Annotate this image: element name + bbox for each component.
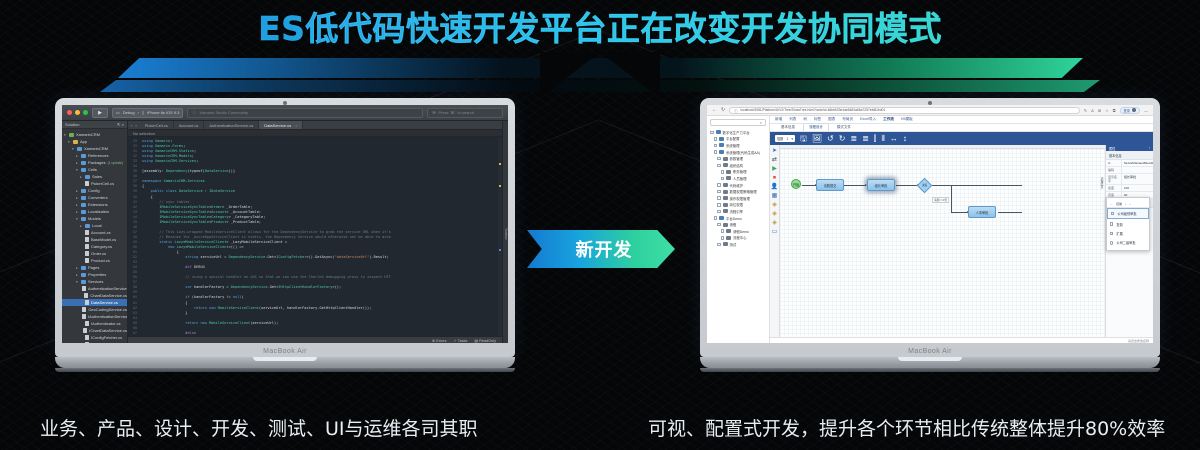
solution-tree-item-label: GeoCodingService.cs xyxy=(88,307,127,312)
readonly-status[interactable]: ▤ ReadOnly xyxy=(474,338,496,343)
code-editor[interactable]: 2930313233343536373839404142434445464748… xyxy=(128,137,502,336)
lowcode-tree-item-label: 平台Demo xyxy=(726,216,742,221)
expander-icon[interactable]: ▾ xyxy=(76,168,79,172)
solution-tree-item[interactable]: Category.cs xyxy=(62,243,127,250)
solution-tree-item[interactable]: DataService.cs xyxy=(62,299,127,306)
solution-tree-item-label: Extensions xyxy=(88,202,108,207)
file-icon xyxy=(82,286,86,291)
flow-node-gateway-label: 决策 xyxy=(919,180,930,191)
file-icon xyxy=(85,342,89,343)
checkbox-icon[interactable] xyxy=(1111,212,1114,215)
editor-tab-label: PickerCell.cs xyxy=(145,123,168,128)
solution-tree-item[interactable]: ChartDataService.cs xyxy=(62,292,127,299)
folder-icon xyxy=(81,210,86,214)
lowcode-tree-item[interactable]: 测试 xyxy=(709,241,769,248)
solution-tree-item[interactable]: ▾XamarinCRM xyxy=(62,131,127,138)
lowcode-subtab[interactable]: 基本信息 xyxy=(775,123,801,131)
folder-icon xyxy=(723,242,728,246)
error-icon: ⊗ xyxy=(432,339,435,343)
checkbox[interactable] xyxy=(714,150,718,154)
subprocess-icon[interactable]: ▭ xyxy=(772,229,778,235)
flow-node-task-selected[interactable]: 组长审批 xyxy=(867,179,895,191)
solution-tree-item[interactable]: ▾Models xyxy=(62,215,127,222)
editor-tab-label: Account.cs xyxy=(179,123,199,128)
folder-icon xyxy=(719,137,724,141)
context-menu-item[interactable]: 复制 xyxy=(1107,219,1149,228)
lowcode-tree-item[interactable]: 平台配置 xyxy=(709,136,769,143)
save-icon[interactable]: 🖫 xyxy=(800,135,807,143)
solution-tree-item[interactable]: Order.cs xyxy=(62,250,127,257)
errors-status[interactable]: ⊗ Errors xyxy=(432,338,447,343)
ide-title-bar: ⓘ Xamarin Studio Community xyxy=(187,108,423,118)
editor-nav-arrows[interactable]: ‹ › xyxy=(128,121,140,129)
expander-icon[interactable]: ▾ xyxy=(76,280,79,284)
ide-screen: ▶ ▭ Debug › ▯ iPhone 6s iOS 9.3 ⓘ Xamari… xyxy=(62,105,508,343)
cursor-icon[interactable]: ➤ xyxy=(772,148,777,154)
ide-toolbar: ▶ ▭ Debug › ▯ iPhone 6s iOS 9.3 ⓘ Xamari… xyxy=(62,105,508,121)
back-icon[interactable]: ‹ xyxy=(131,123,132,128)
inclusive-gateway-icon[interactable]: ◈ xyxy=(772,211,777,217)
lowcode-tree-item[interactable]: 系统管理(代码生成AA) xyxy=(709,149,769,156)
file-icon xyxy=(82,307,86,312)
xamarin-studio-ide: ▶ ▭ Debug › ▯ iPhone 6s iOS 9.3 ⓘ Xamari… xyxy=(62,105,508,343)
ide-right-rail[interactable]: Toolbox xyxy=(502,121,508,343)
solution-tree-item-label: Localization xyxy=(88,209,109,214)
folder-icon xyxy=(73,140,78,144)
close-icon[interactable]: × xyxy=(122,122,124,127)
check-icon: ✓ xyxy=(454,339,457,343)
lowcode-menu-item[interactable]: 树 xyxy=(803,117,807,122)
solution-tree-item-label: Local xyxy=(92,223,102,228)
checkbox[interactable] xyxy=(717,164,721,168)
lowcode-tree-item-label: 系统管理 xyxy=(726,143,740,148)
info-icon: ⓘ xyxy=(192,110,196,116)
folder-icon xyxy=(81,154,86,158)
configuration-selector[interactable]: ▭ Debug › ▯ iPhone 6s iOS 9.3 xyxy=(112,108,183,118)
folder-icon xyxy=(723,209,728,213)
lowcode-sidebar: ⌕ 数字化生产力平台平台配置系统管理系统管理(代码生成AA)参数管理组织结构职务… xyxy=(707,116,770,343)
search-icon: ⌕ xyxy=(760,120,762,125)
scale-selector[interactable]: 倍数 1 ▾ xyxy=(775,135,795,142)
lowcode-menu-item[interactable]: H5模板 xyxy=(901,117,913,122)
redo-icon[interactable]: ↻ xyxy=(839,135,846,143)
ide-status-bar: ⊗ Errors ✓ Tasks ▤ ReadOnly xyxy=(128,336,502,343)
checkbox[interactable] xyxy=(721,236,725,240)
lowcode-tree-item[interactable]: 数据权限策略管理 xyxy=(709,188,769,195)
solution-tree-item-label: PickerCell.cs xyxy=(91,181,114,186)
laptop-left-model-label: MacBook Air xyxy=(55,348,515,355)
lowcode-tree-item[interactable]: 人员管理 xyxy=(709,175,769,182)
expander-icon[interactable]: ▾ xyxy=(64,133,67,137)
file-icon xyxy=(85,230,89,235)
context-menu-item[interactable]: 扩展 xyxy=(1107,229,1149,238)
solution-tree-item[interactable]: IChartDataService.cs xyxy=(62,327,127,334)
solution-panel-header: Solution ⇱ × xyxy=(62,121,127,129)
property-value[interactable]: 组长审批 xyxy=(1122,174,1153,184)
minimize-icon[interactable]: — xyxy=(1144,108,1148,113)
solution-tree-item-label: Pages xyxy=(88,265,99,270)
checkbox-icon[interactable] xyxy=(1110,222,1113,225)
context-menu-item[interactable]: 公司级别审批 xyxy=(1107,208,1149,219)
solution-tree[interactable]: ▾XamarinCRM▾App▾XamarinCRM▸References▸Pa… xyxy=(62,129,127,343)
solution-tree-item[interactable]: IConfigFetcher.cs xyxy=(62,334,127,341)
expander-icon[interactable]: ▸ xyxy=(80,175,83,179)
lowcode-subtab[interactable]: 模式文件 xyxy=(831,123,857,131)
image-icon[interactable]: 🖼 xyxy=(812,135,822,143)
context-menu-item[interactable]: 公司二级审批 xyxy=(1107,238,1149,247)
user-task-icon[interactable]: 👤 xyxy=(771,184,778,190)
browser-window: ← ↻ ⓘ localhost:9081/Platform/UIV2/Tree/… xyxy=(707,105,1153,343)
device-icon: ▯ xyxy=(142,110,144,115)
file-icon xyxy=(85,258,89,263)
close-icon[interactable]: × xyxy=(295,123,297,128)
solution-tree-item[interactable]: ▸Config xyxy=(62,187,127,194)
prev-icon[interactable]: ‹ xyxy=(1125,202,1126,206)
checkbox[interactable] xyxy=(714,216,718,220)
lowcode-menu-item[interactable]: 新增 xyxy=(775,117,782,122)
lowcode-tree-item[interactable]: 参数管理 xyxy=(709,155,769,162)
solution-tree-item[interactable]: ▾App xyxy=(62,138,127,145)
lowcode-tree-item[interactable]: 请假 xyxy=(709,221,769,228)
solution-tree-item-label: Config xyxy=(88,188,100,193)
lowcode-tree-item[interactable]: 代码维护 xyxy=(709,182,769,189)
laptop-right-foot xyxy=(700,368,1160,372)
laptop-left-foot xyxy=(55,368,515,372)
folder-icon xyxy=(723,183,728,187)
checkbox[interactable] xyxy=(717,223,721,227)
align-left-icon[interactable]: ≣ xyxy=(850,135,857,143)
properties-panel-title: 属性 xyxy=(1109,146,1115,151)
address-bar[interactable]: ⓘ localhost:9081/Platform/UIV2/Tree/Show… xyxy=(729,107,1080,114)
solution-tree-item-label: XamarinCRM xyxy=(76,132,100,137)
solution-tree-item-label: IConfigFetcher.cs xyxy=(91,335,122,340)
lowcode-menu-item[interactable]: 布局页 xyxy=(842,117,853,122)
solution-tree-item[interactable]: ▾Cells xyxy=(62,166,127,173)
editor-tabbar: ‹ › PickerCell.csAccount.csAuthenticatio… xyxy=(128,121,502,130)
solution-tree-item-label: IAuthenticator.cs xyxy=(91,321,121,326)
read-aloud-icon[interactable]: A xyxy=(1091,108,1094,113)
solution-tree-item-label: References xyxy=(88,153,108,158)
solution-tree-item-label: BaseModel.cs xyxy=(91,237,116,242)
editor-tab-label: AuthenticationService.cs xyxy=(209,123,253,128)
search-input[interactable]: ⌕ xyxy=(710,119,766,126)
checkbox[interactable] xyxy=(710,131,714,135)
align-right-icon[interactable]: ≣ xyxy=(862,135,869,143)
context-menu-item-label: 复制 xyxy=(1116,222,1122,227)
solution-tree-item-label: Category.cs xyxy=(91,244,112,249)
next-icon[interactable]: › xyxy=(1129,202,1130,206)
expander-icon[interactable]: ▸ xyxy=(76,266,79,270)
tasks-status[interactable]: ✓ Tasks xyxy=(454,338,468,343)
expander-icon[interactable]: ▾ xyxy=(72,147,75,151)
editor-tab[interactable]: DataService.cs× xyxy=(259,121,303,129)
lowcode-subtab[interactable]: 流程设计 xyxy=(803,123,829,131)
solution-tree-item-label: Services xyxy=(88,279,103,284)
lowcode-tree-item[interactable]: 组织结构 xyxy=(709,162,769,169)
flow-canvas[interactable]: 开始 请假提交 组长审批 决策 人事审批 请假>=3天 流程结束 xyxy=(780,145,1105,337)
lowcode-tree-item-label: 测试 xyxy=(730,242,737,247)
align-center-v-icon[interactable]: ⫿ xyxy=(874,135,877,143)
solution-tree-item[interactable]: ▸Sales xyxy=(62,173,127,180)
solution-tree-item[interactable]: ▸Extensions xyxy=(62,201,127,208)
lowcode-tree-item-label: 组织结构 xyxy=(730,163,744,168)
file-icon xyxy=(85,251,89,256)
property-value[interactable]: 5a1ca53a1ae484ecdb6864015d2ce xyxy=(1122,160,1153,166)
ide-quick-search[interactable]: ⌘· Press '⌘.' to search xyxy=(427,108,503,118)
lowcode-app: ⌕ 数字化生产力平台平台配置系统管理系统管理(代码生成AA)参数管理组织结构职务… xyxy=(707,116,1153,343)
lowcode-menu-item[interactable]: Excel导入 xyxy=(860,117,876,122)
checkbox[interactable] xyxy=(717,243,721,247)
folder-icon xyxy=(716,130,721,134)
lowcode-tree-item-label: 流程引擎 xyxy=(730,209,744,214)
solution-tree-item-label: Order.cs xyxy=(91,251,106,256)
folder-icon xyxy=(726,176,731,180)
lock-icon: ▤ xyxy=(474,339,478,343)
designer-toolbar: 倍数 1 ▾ 🖫 🖼 ↺ ↻ ≣ ≣ ⫿ ⦀ ↔ xyxy=(770,132,1153,145)
file-icon xyxy=(83,328,87,333)
folder-icon xyxy=(81,168,86,172)
editor-tab-label: DataService.cs xyxy=(264,123,291,128)
solution-tree-item[interactable]: IAuthenticationService.cs xyxy=(62,313,127,320)
page-title: ES低代码快速开发平台正在改变开发协同模式 xyxy=(0,2,1200,50)
solution-tree-item[interactable]: ▾XamarinCRM xyxy=(62,145,127,152)
solution-tree-item-label: ChartDataService.cs xyxy=(90,293,127,298)
flow-edge xyxy=(951,212,968,213)
browser-chrome: ← ↻ ⓘ localhost:9081/Platform/UIV2/Tree/… xyxy=(707,105,1153,116)
avatar xyxy=(1132,108,1136,112)
property-value[interactable]: 100 xyxy=(1122,185,1153,191)
expander-icon[interactable]: ▸ xyxy=(76,196,79,200)
expander-icon[interactable]: ▸ xyxy=(76,210,79,214)
folder-icon xyxy=(81,266,86,270)
gateway-icon[interactable]: ◈ xyxy=(772,202,777,208)
folder-icon xyxy=(719,150,724,154)
folder-icon xyxy=(723,223,728,227)
folder-icon xyxy=(81,280,86,284)
solution-tree-item[interactable]: ▸References xyxy=(62,152,127,159)
distribute-icon[interactable]: ⦀ xyxy=(881,135,885,143)
lowcode-tree-item-label: 数据权限策略管理 xyxy=(730,189,757,194)
expander-icon[interactable]: ▸ xyxy=(76,273,79,277)
solution-tree-item[interactable]: ▸Pages xyxy=(62,264,127,271)
lowcode-tree-item[interactable]: 流程中心 xyxy=(709,235,769,242)
forward-icon[interactable]: › xyxy=(135,123,136,128)
lowcode-tree-item-label: 岗位权限 xyxy=(730,202,744,207)
caption-right: 可视、配置式开发，提升各个环节相比传统整体提升80%效率 xyxy=(648,414,1165,441)
solution-tree-item[interactable]: ▸Localization xyxy=(62,208,127,215)
file-icon xyxy=(82,314,86,319)
context-menu-header: ← 控制 ‹ › xyxy=(1107,200,1149,208)
folder-icon xyxy=(719,143,724,147)
file-icon xyxy=(85,300,89,305)
solution-tree-item[interactable]: ▸Properties xyxy=(62,271,127,278)
solution-tree-item-label: Sales xyxy=(92,174,102,179)
chevron-down-icon: ▾ xyxy=(791,137,793,141)
solution-tree-item-label: IAuthenticationService.cs xyxy=(88,314,127,319)
url-text: localhost:9081/Platform/UIV2/Tree/ShowTr… xyxy=(741,108,886,112)
flow-edge xyxy=(844,185,866,186)
solution-tree-item-label: IChartDataService.cs xyxy=(89,328,127,333)
lowcode-tree[interactable]: 数字化生产力平台平台配置系统管理系统管理(代码生成AA)参数管理组织结构职务管理… xyxy=(707,129,769,343)
expander-icon[interactable]: ▸ xyxy=(76,154,79,158)
undo-icon[interactable]: ↺ xyxy=(827,135,834,143)
solution-tree-item[interactable]: GeoCodingService.cs xyxy=(62,306,127,313)
folder-icon xyxy=(726,170,731,174)
collapse-icon[interactable]: › xyxy=(1149,146,1150,150)
checkbox[interactable] xyxy=(717,210,721,214)
folder-icon xyxy=(81,217,86,221)
lowcode-tree-item[interactable]: 请假Demo xyxy=(709,228,769,235)
lowcode-tree-item-label: 操作权限管理 xyxy=(730,196,750,201)
lowcode-tree-item[interactable]: 流程引擎 xyxy=(709,208,769,215)
solution-tree-item[interactable]: ▸Local xyxy=(62,222,127,229)
back-icon[interactable]: ← xyxy=(1110,202,1113,206)
file-icon xyxy=(85,321,89,326)
profile-button[interactable]: 登录 xyxy=(1120,107,1140,114)
file-icon xyxy=(84,293,88,298)
flow-edge xyxy=(802,185,816,186)
solution-tree-item-label: Converters xyxy=(88,195,108,200)
align-v-icon[interactable]: ↕ xyxy=(903,135,907,143)
expander-icon[interactable]: ▾ xyxy=(76,217,79,221)
lowcode-subtabs[interactable]: 基本信息流程设计模式文件 xyxy=(770,124,1153,132)
property-value[interactable] xyxy=(1122,167,1153,173)
lowcode-menu-item[interactable]: 标签 xyxy=(814,117,821,122)
folder-icon xyxy=(81,273,86,277)
swap-icon[interactable]: ⇄ xyxy=(772,157,777,163)
file-icon xyxy=(85,244,89,249)
context-menu[interactable]: ← 控制 ‹ › 公司级别审批复制扩展公司二级审批 xyxy=(1106,197,1150,251)
lowcode-tree-item[interactable]: 职务管理 xyxy=(709,169,769,176)
checkbox[interactable] xyxy=(717,183,721,187)
laptop-left-base xyxy=(55,357,515,368)
pencil-icon[interactable]: ✎ xyxy=(1084,108,1087,113)
lowcode-menu-item[interactable]: 工作流 xyxy=(883,117,894,122)
lowcode-tree-item-label: 流程中心 xyxy=(733,235,747,240)
solution-tree-item[interactable]: AuthenticationService.cs xyxy=(62,285,127,292)
title-underbar-primary xyxy=(118,58,1083,78)
checkbox[interactable] xyxy=(714,144,718,148)
solution-tree-item[interactable]: ▸Packages(1 update) xyxy=(62,159,127,166)
lowcode-tree-item[interactable]: 数字化生产力平台 xyxy=(709,129,769,136)
lowcode-main: 新增列表树标签图表布局页Excel导入工作流H5模板 基本信息流程设计模式文件 … xyxy=(770,116,1153,343)
property-key: id xyxy=(1106,160,1122,166)
align-h-icon[interactable]: ↔ xyxy=(890,135,898,143)
solution-tree-item-label: Properties xyxy=(88,272,106,277)
flow-edge xyxy=(951,185,952,212)
flow-end-label: 流程结束 xyxy=(1100,177,1104,188)
favorites-icon[interactable]: ☆ xyxy=(1105,108,1109,113)
folder-icon xyxy=(85,224,90,228)
extensions-icon[interactable]: ⧉ xyxy=(1113,108,1116,113)
lowcode-tree-item-label: 请假 xyxy=(730,222,737,227)
run-button[interactable]: ▶ xyxy=(92,108,108,118)
window-traffic-lights[interactable] xyxy=(67,110,88,115)
code-text[interactable]: using Xamarin;using Xamarin.Forms;using … xyxy=(139,137,498,336)
lowcode-menu-item[interactable]: 列表 xyxy=(789,117,796,122)
lowcode-footer: 请双击修改名称 xyxy=(770,337,1153,343)
checkbox[interactable] xyxy=(721,170,725,174)
property-row: 宽度100 xyxy=(1106,185,1153,192)
expander-icon[interactable]: ▾ xyxy=(68,140,71,144)
lowcode-tree-item-label: 请假Demo xyxy=(733,229,749,234)
solution-tree-item[interactable]: IDataService.cs xyxy=(62,341,127,343)
lowcode-tree-item-label: 职务管理 xyxy=(733,169,747,174)
folder-icon xyxy=(726,236,731,240)
solution-tree-item[interactable]: ▸Converters xyxy=(62,194,127,201)
lowcode-menu-item[interactable]: 图表 xyxy=(828,117,835,122)
solution-tree-item[interactable]: Account.cs xyxy=(62,229,127,236)
solution-tree-item[interactable]: IAuthenticator.cs xyxy=(62,320,127,327)
editor-tab[interactable]: PickerCell.cs xyxy=(140,121,174,129)
flow-node-task[interactable]: 请假提交 xyxy=(816,179,844,191)
canvas-ruler xyxy=(780,145,1105,149)
solution-tree-item-label: Models xyxy=(88,216,101,221)
folder-icon xyxy=(723,196,728,200)
flow-node-task-2[interactable]: 人事审批 xyxy=(968,206,996,218)
folder-icon xyxy=(81,189,86,193)
expander-icon[interactable]: ▸ xyxy=(76,189,79,193)
checkbox-icon[interactable] xyxy=(1110,232,1113,235)
checkbox[interactable] xyxy=(717,203,721,207)
editor-tab[interactable]: AuthenticationService.cs xyxy=(204,121,259,129)
line-number-gutter: 2930313233343536373839404142434445464748… xyxy=(128,137,139,336)
end-event-icon[interactable]: ⏹ xyxy=(773,175,776,181)
checkbox[interactable] xyxy=(717,196,721,200)
solution-tree-item[interactable]: PickerCell.cs xyxy=(62,180,127,187)
expander-icon[interactable]: ▸ xyxy=(76,203,79,207)
flow-edge xyxy=(896,185,918,186)
flow-edge xyxy=(998,212,1022,213)
solution-tree-item[interactable]: ▾Services xyxy=(62,278,127,285)
lowcode-tree-item-label: 参数管理 xyxy=(730,156,744,161)
properties-section-basic[interactable]: 基本信息 xyxy=(1106,151,1153,160)
solution-panel: Solution ⇱ × ▾XamarinCRM▾App▾XamarinCRM▸… xyxy=(62,121,128,343)
shape-palette[interactable]: ➤ ⇄ ▶ ⏹ 👤 ▦ ◈ ◈ ◈ ▭ xyxy=(770,145,780,337)
lowcode-tree-item[interactable]: 系统管理 xyxy=(709,142,769,149)
pin-icon[interactable]: ⇱ xyxy=(117,122,120,127)
reload-icon[interactable]: ↻ xyxy=(721,107,725,113)
property-key: 显示名字 xyxy=(1106,174,1122,184)
service-task-icon[interactable]: ▦ xyxy=(772,193,778,199)
checkbox[interactable] xyxy=(721,177,725,181)
expander-icon[interactable]: ▸ xyxy=(76,161,79,165)
parallel-gateway-icon[interactable]: ◈ xyxy=(772,220,777,226)
file-icon xyxy=(85,237,89,242)
editor-tab[interactable]: Account.cs xyxy=(174,121,205,129)
lowcode-tree-item[interactable]: 岗位权限 xyxy=(709,202,769,209)
solution-tree-item[interactable]: Product.cs xyxy=(62,257,127,264)
solution-tree-item-label: XamarinCRM xyxy=(84,146,108,151)
flow-edge xyxy=(930,185,1022,186)
checkbox[interactable] xyxy=(721,229,725,233)
lowcode-tree-item-label: 人员管理 xyxy=(733,176,747,181)
solution-tree-item[interactable]: BaseModel.cs xyxy=(62,236,127,243)
checkbox[interactable] xyxy=(714,137,718,141)
lowcode-tree-item[interactable]: 平台Demo xyxy=(709,215,769,222)
back-icon[interactable]: ← xyxy=(712,107,717,113)
flow-node-start[interactable]: 开始 xyxy=(791,179,801,189)
checkbox[interactable] xyxy=(717,190,721,194)
radio-icon[interactable] xyxy=(1110,241,1113,244)
lowcode-tree-item[interactable]: 操作权限管理 xyxy=(709,195,769,202)
start-event-icon[interactable]: ▶ xyxy=(772,166,777,172)
collections-icon[interactable]: ⊞ xyxy=(1098,108,1101,113)
expander-icon[interactable]: ▸ xyxy=(80,224,83,228)
checkbox[interactable] xyxy=(717,157,721,161)
caption-left: 业务、产品、设计、开发、测试、UI与运维各司其职 xyxy=(40,414,478,441)
code-minimap[interactable] xyxy=(498,137,502,336)
